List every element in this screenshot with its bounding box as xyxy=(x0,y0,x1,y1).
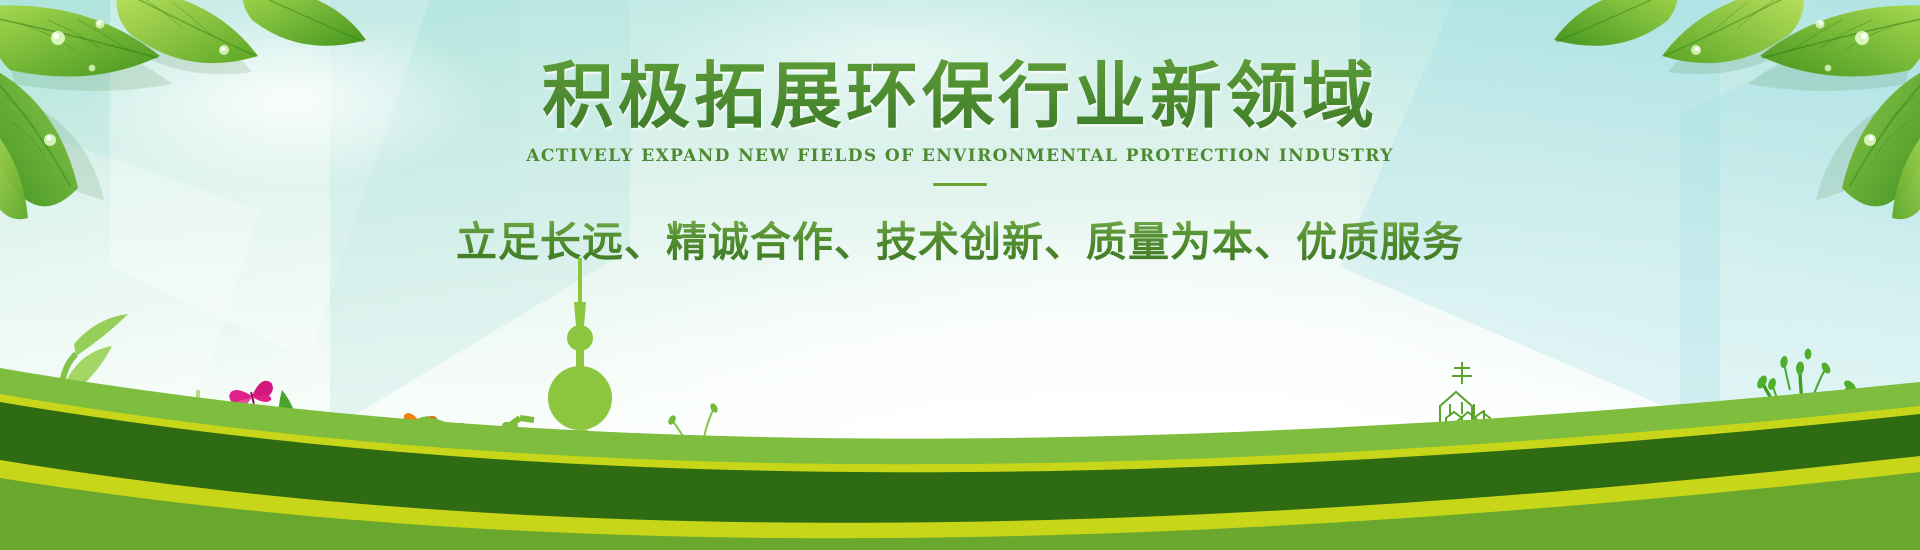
leaf-cluster-icon xyxy=(1500,0,1920,230)
leaf-cluster-icon xyxy=(0,0,420,230)
divider xyxy=(933,183,987,186)
eco-banner: 积极拓展环保行业新领域 ACTIVELY EXPAND NEW FIELDS O… xyxy=(0,0,1920,550)
wave-band-icon xyxy=(0,290,1920,550)
